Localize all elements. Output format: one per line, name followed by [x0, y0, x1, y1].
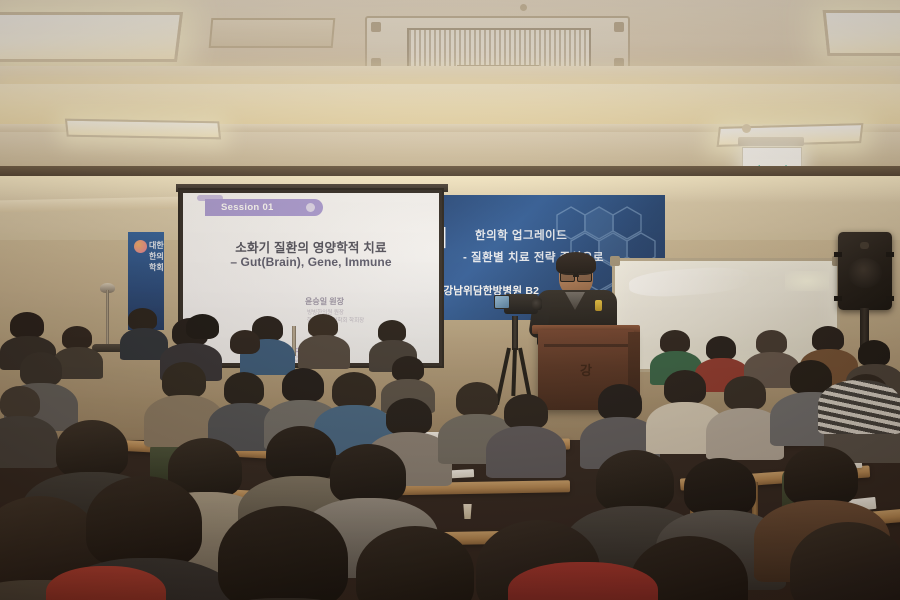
audience-hair [224, 372, 264, 405]
audience-shoulders [298, 335, 350, 369]
whiteboard-glare [628, 265, 750, 299]
audience-area [0, 300, 900, 600]
slide-title: 소화기 질환의 영양학적 치료 [183, 237, 439, 256]
audience-hair [504, 394, 548, 429]
ceiling-vent-panel [209, 18, 336, 48]
audience-hair [162, 362, 206, 398]
audience-hair [392, 356, 424, 381]
audience-hair [664, 370, 706, 404]
audience-shoulders [486, 426, 566, 478]
audience-hair [128, 308, 157, 330]
audience-shoulders [818, 380, 900, 434]
ceiling-light-panel-right [823, 10, 900, 56]
audience-hair [684, 458, 756, 516]
audience-hair [56, 420, 128, 478]
audience-hair [282, 368, 324, 402]
audience-hair [10, 312, 44, 338]
pa-speaker [838, 232, 892, 310]
ceiling-light-panel-left-lower [65, 119, 221, 140]
ceiling-light-panel-left [0, 12, 183, 62]
audience-hair [706, 336, 736, 360]
ceiling-sensor [520, 4, 527, 11]
audience-hair [186, 314, 219, 339]
audience-hair [724, 376, 766, 410]
glasses-lens [577, 272, 592, 282]
audience-hair [378, 320, 406, 342]
audience-hair [386, 398, 432, 435]
glasses-lens [560, 272, 575, 282]
pa-woofer [848, 258, 882, 288]
audience-hair [230, 330, 260, 354]
audience-hair [0, 386, 40, 418]
pa-tweeter [860, 242, 869, 249]
ac-grill [407, 28, 591, 70]
slide-session-dot-icon [306, 203, 315, 212]
audience-hair [784, 446, 858, 506]
audience-hair [330, 444, 406, 504]
audience-hair [596, 450, 674, 512]
lecture-hall-photo: ←→ 비 [0, 0, 900, 600]
ac-corner [371, 22, 381, 32]
audience-hair [332, 372, 376, 408]
audience-hair [266, 426, 336, 482]
audience-hair [62, 326, 92, 349]
audience-hair [218, 506, 348, 600]
audience-hair [86, 476, 202, 568]
slide-session-badge: Session 01 [205, 199, 323, 216]
audience-hair [858, 340, 890, 366]
audience-hair [308, 314, 338, 337]
audience-hair [598, 384, 642, 420]
pa-mount-tab [834, 252, 842, 257]
backdrop-line-1: 한의학 업그레이드 [475, 227, 659, 243]
ac-corner [614, 22, 624, 32]
pa-mount-tab [886, 252, 894, 257]
side-banner-label: 대한한의학회 [149, 240, 164, 273]
whiteboard-glare [785, 271, 829, 291]
presenter-glasses-icon [560, 272, 592, 280]
audience-hair [660, 330, 690, 353]
exit-sign-mount [738, 137, 804, 146]
audience-hair [812, 326, 844, 351]
coffee-cup [462, 504, 473, 519]
ceiling-fixture-dot [742, 124, 751, 133]
audience-hair [20, 352, 62, 386]
audience-hair [756, 330, 787, 354]
society-logo-mark-icon [134, 240, 147, 253]
ceiling-edge-shadow [0, 166, 900, 176]
audience-hair [456, 382, 498, 416]
slide-session-label: Session 01 [205, 202, 274, 213]
slide-subtitle: – Gut(Brain), Gene, Immune [183, 255, 439, 269]
audience-shoulders [0, 416, 58, 468]
